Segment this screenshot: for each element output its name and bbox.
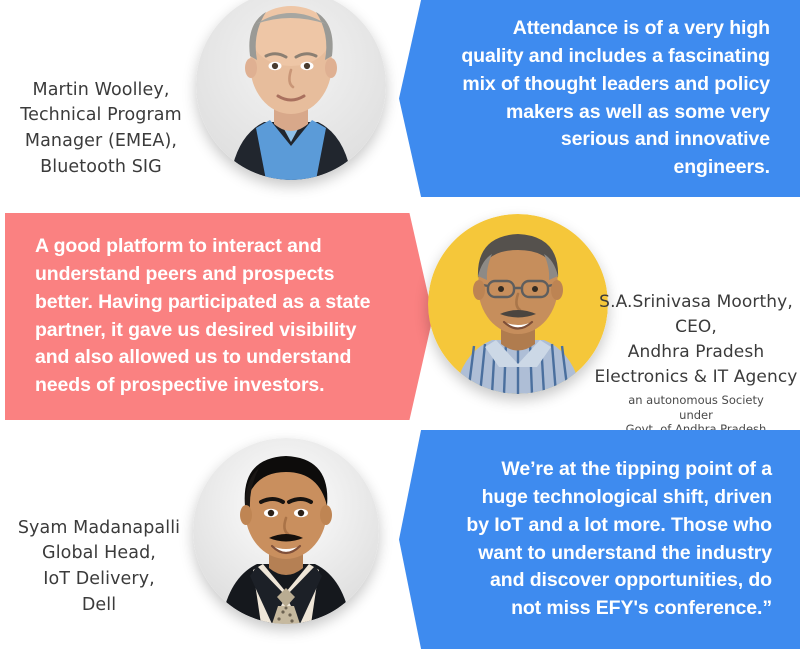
avatar-syam-madanapalli: [193, 438, 379, 624]
person-info-martin-woolley: Martin Woolley, Technical Program Manage…: [8, 52, 194, 181]
testimonial-row-1: Martin Woolley, Technical Program Manage…: [0, 0, 800, 205]
quote-text: A good platform to interact and understa…: [35, 233, 375, 399]
person-name-block: Syam Madanapalli Global Head, IoT Delive…: [18, 518, 180, 615]
testimonial-row-2: A good platform to interact and understa…: [0, 209, 800, 422]
person-name-block: Martin Woolley, Technical Program Manage…: [20, 80, 181, 177]
quote-panel-martin-woolley: Attendance is of a very high quality and…: [399, 0, 800, 197]
avatar-martin-woolley: [196, 0, 386, 180]
quote-panel-syam-madanapalli: We’re at the tipping point of a huge tec…: [399, 430, 800, 649]
person-name-block: S.A.Srinivasa Moorthy, CEO, Andhra Prade…: [595, 292, 798, 387]
person-info-syam-madanapalli: Syam Madanapalli Global Head, IoT Delive…: [6, 490, 192, 619]
testimonial-row-3: Syam Madanapalli Global Head, IoT Delive…: [0, 428, 800, 649]
quote-text: Attendance is of a very high quality and…: [461, 15, 770, 181]
avatar-srinivasa-moorthy: [428, 214, 608, 394]
testimonial-board: Martin Woolley, Technical Program Manage…: [0, 0, 800, 649]
quote-text: We’re at the tipping point of a huge tec…: [461, 456, 772, 622]
quote-panel-srinivasa-moorthy: A good platform to interact and understa…: [5, 213, 433, 420]
